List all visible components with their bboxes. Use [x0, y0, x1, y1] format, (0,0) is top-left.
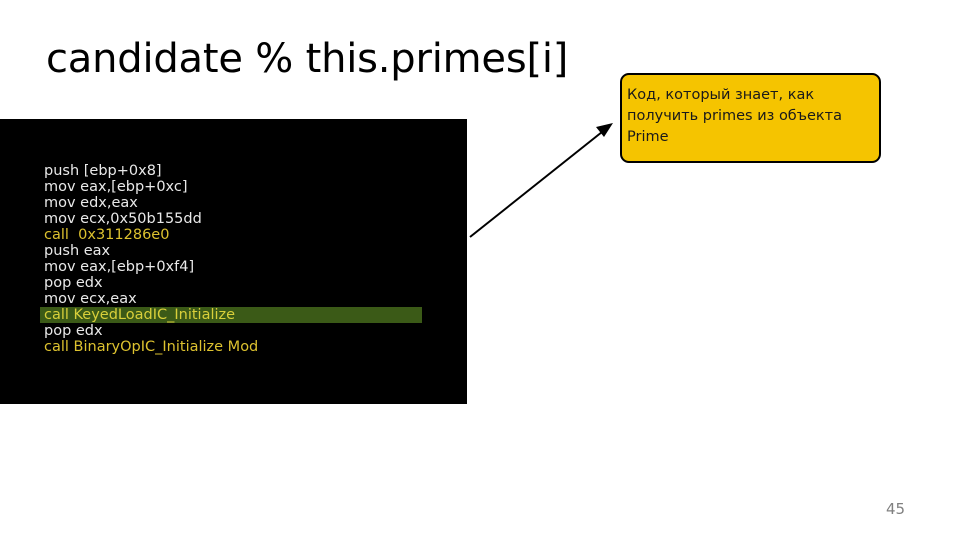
callout-pointer-arrow: [455, 110, 625, 250]
code-line: mov ecx,eax: [0, 291, 467, 307]
code-block: push [ebp+0x8]mov eax,[ebp+0xc]mov edx,e…: [0, 119, 467, 404]
code-line: push [ebp+0x8]: [0, 163, 467, 179]
page-number: 45: [886, 500, 926, 518]
code-line: mov edx,eax: [0, 195, 467, 211]
code-line: call KeyedLoadIC_Initialize: [0, 307, 467, 323]
arrow-shaft: [470, 128, 607, 237]
page-title: candidate % this.primes[i]: [46, 33, 568, 85]
code-line-list: push [ebp+0x8]mov eax,[ebp+0xc]mov edx,e…: [0, 163, 467, 355]
code-line-text: call KeyedLoadIC_Initialize: [44, 307, 235, 323]
code-line: mov eax,[ebp+0xc]: [0, 179, 467, 195]
code-line: pop edx: [0, 275, 467, 291]
code-line: mov ecx,0x50b155dd: [0, 211, 467, 227]
slide-canvas: candidate % this.primes[i] push [ebp+0x8…: [0, 0, 960, 540]
callout-text: Код, который знает, как получить primes …: [627, 85, 875, 148]
code-line: mov eax,[ebp+0xf4]: [0, 259, 467, 275]
code-line: pop edx: [0, 323, 467, 339]
code-line: push eax: [0, 243, 467, 259]
code-line: call 0x311286e0: [0, 227, 467, 243]
callout-box: Код, который знает, как получить primes …: [620, 73, 881, 163]
code-line: call BinaryOpIC_Initialize Mod: [0, 339, 467, 355]
